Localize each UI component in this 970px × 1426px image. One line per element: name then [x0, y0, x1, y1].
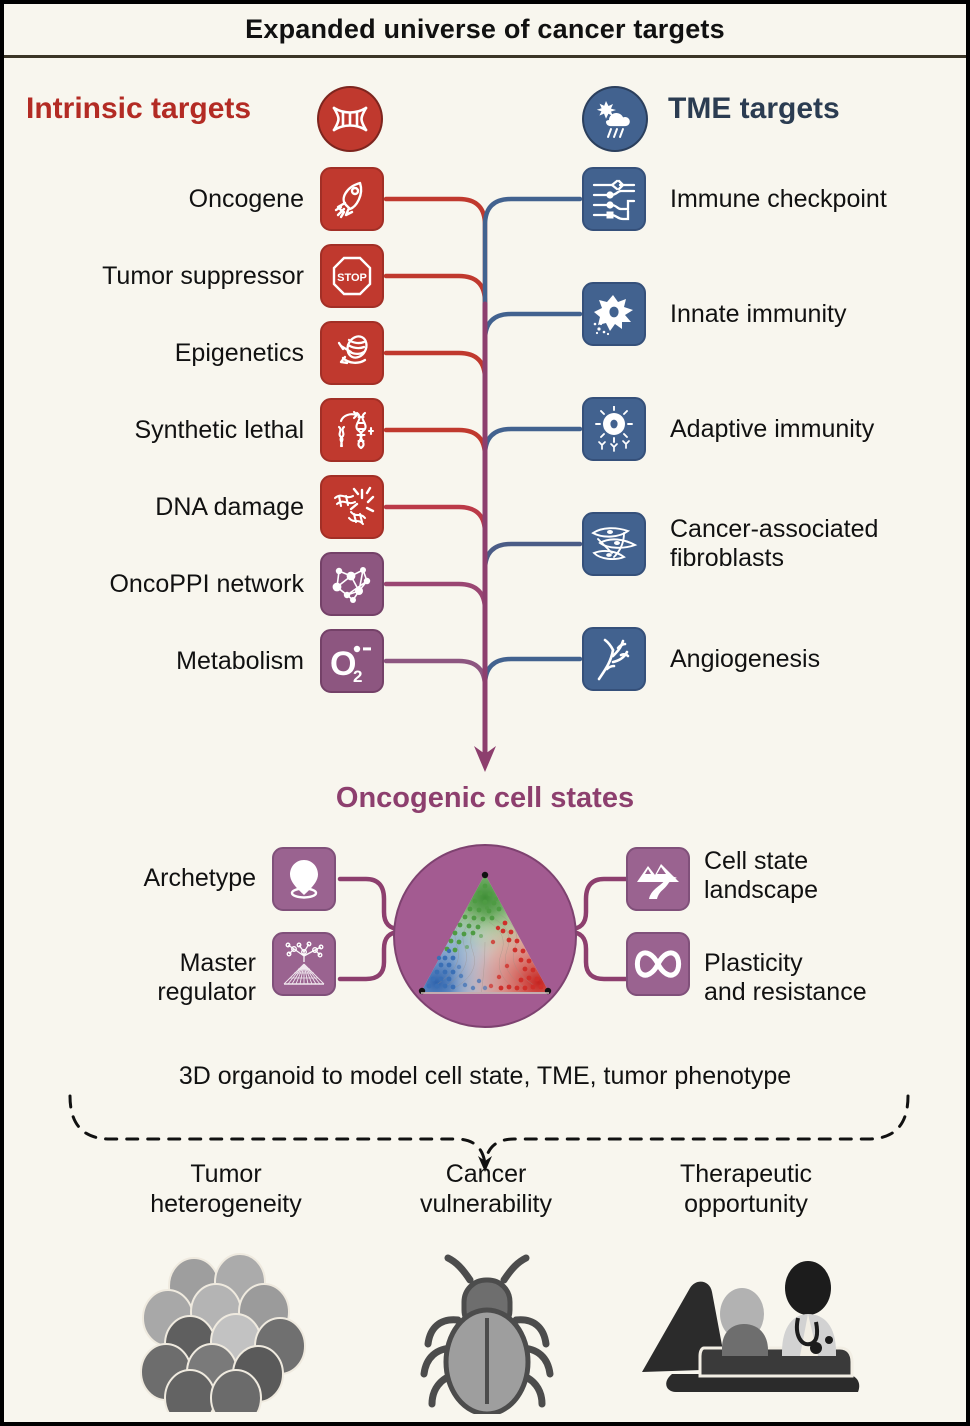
connector-oncoppi — [386, 584, 485, 764]
tme-label-angiogenesis: Angiogenesis — [670, 645, 970, 674]
stop-sign-icon[interactable]: STOP — [320, 244, 384, 308]
connector-synthetic-lethal — [386, 430, 485, 764]
infinity-icon[interactable] — [626, 932, 690, 996]
tme-targets-header: TME targets — [668, 92, 840, 126]
connector-oncogene — [386, 199, 485, 764]
macrophage-icon[interactable] — [582, 282, 646, 346]
organoid-statement: 3D organoid to model cell state, TME, tu… — [4, 1062, 966, 1091]
oncogenic-label-archetype: Archetype — [4, 864, 256, 893]
figure-title-bar: Expanded universe of cancer targets — [4, 4, 966, 58]
t-cell-antibody-icon[interactable] — [582, 397, 646, 461]
blood-vessel-icon[interactable] — [582, 627, 646, 691]
oncogenic-label-master-regulator: Master regulator — [4, 949, 256, 1007]
connector-metabolism — [386, 661, 485, 764]
connector-master-regulator — [340, 932, 400, 979]
mountain-landscape-icon[interactable] — [626, 847, 690, 911]
connector-cell-state-landscape — [570, 879, 626, 929]
dashed-brace — [70, 1096, 908, 1164]
connector-innate-immunity — [485, 314, 580, 764]
connector-epigenetics — [386, 353, 485, 764]
intrinsic-label-oncoppi-network: OncoPPI network — [4, 570, 304, 599]
fibroblast-icon[interactable] — [582, 512, 646, 576]
page-title: Expanded universe of cancer targets — [245, 14, 725, 45]
tme-label-adaptive-immunity: Adaptive immunity — [670, 415, 970, 444]
regulator-network-icon[interactable] — [272, 932, 336, 996]
figure-panel: Expanded universe of cancer targets Intr… — [0, 0, 970, 1426]
intrinsic-label-tumor-suppressor: Tumor suppressor — [4, 262, 304, 291]
intrinsic-label-oncogene: Oncogene — [4, 185, 304, 214]
intrinsic-label-synthetic-lethal: Synthetic lethal — [4, 416, 304, 445]
connector-adaptive-immunity — [485, 429, 580, 764]
rocket-icon[interactable] — [320, 167, 384, 231]
dna-helix-icon — [317, 86, 383, 152]
outcome-label-tumor-heterogeneity: Tumor heterogeneity — [76, 1159, 376, 1219]
connector-plasticity — [570, 932, 626, 979]
intrinsic-label-metabolism: Metabolism — [4, 647, 304, 676]
dna-pair-icon[interactable] — [320, 398, 384, 462]
trunk-arrowhead — [474, 746, 496, 772]
outcome-label-therapeutic-opportunity: Therapeutic opportunity — [596, 1159, 896, 1219]
storm-cloud-icon — [582, 86, 648, 152]
tme-label-cancer-associated-fibroblasts: Cancer-associated fibroblasts — [670, 515, 970, 573]
oncogenic-label-cell-state-landscape: Cell state landscape — [704, 847, 970, 905]
bug-icon — [402, 1252, 572, 1419]
connector-dna-damage — [386, 507, 485, 764]
svg-text:STOP: STOP — [337, 272, 367, 284]
outcome-label-cancer-vulnerability: Cancer vulnerability — [336, 1159, 636, 1219]
svg-text:2: 2 — [353, 667, 362, 685]
cell-cluster-icon — [132, 1252, 322, 1417]
receptor-ligand-icon[interactable] — [582, 167, 646, 231]
connector-caf — [485, 544, 580, 764]
connector-archetype — [340, 879, 400, 929]
nucleosome-icon[interactable] — [320, 321, 384, 385]
doctor-patient-icon — [632, 1252, 882, 1417]
intrinsic-label-epigenetics: Epigenetics — [4, 339, 304, 368]
tme-label-immune-checkpoint: Immune checkpoint — [670, 185, 970, 214]
connector-immune-checkpoint — [485, 199, 580, 764]
tme-label-innate-immunity: Innate immunity — [670, 300, 970, 329]
network-graph-icon[interactable] — [320, 552, 384, 616]
intrinsic-label-dna-damage: DNA damage — [4, 493, 304, 522]
connector-angiogenesis — [485, 659, 580, 764]
connector-tumor-suppressor — [386, 276, 485, 764]
cell-state-simplex-plot — [393, 844, 577, 1028]
map-pin-icon[interactable] — [272, 847, 336, 911]
oncogenic-cell-states-heading: Oncogenic cell states — [4, 782, 966, 815]
intrinsic-targets-header: Intrinsic targets — [26, 92, 251, 126]
superoxide-o2-icon[interactable]: O 2 — [320, 629, 384, 693]
oncogenic-label-plasticity: Plasticity and resistance — [704, 949, 970, 1007]
dna-break-icon[interactable] — [320, 475, 384, 539]
